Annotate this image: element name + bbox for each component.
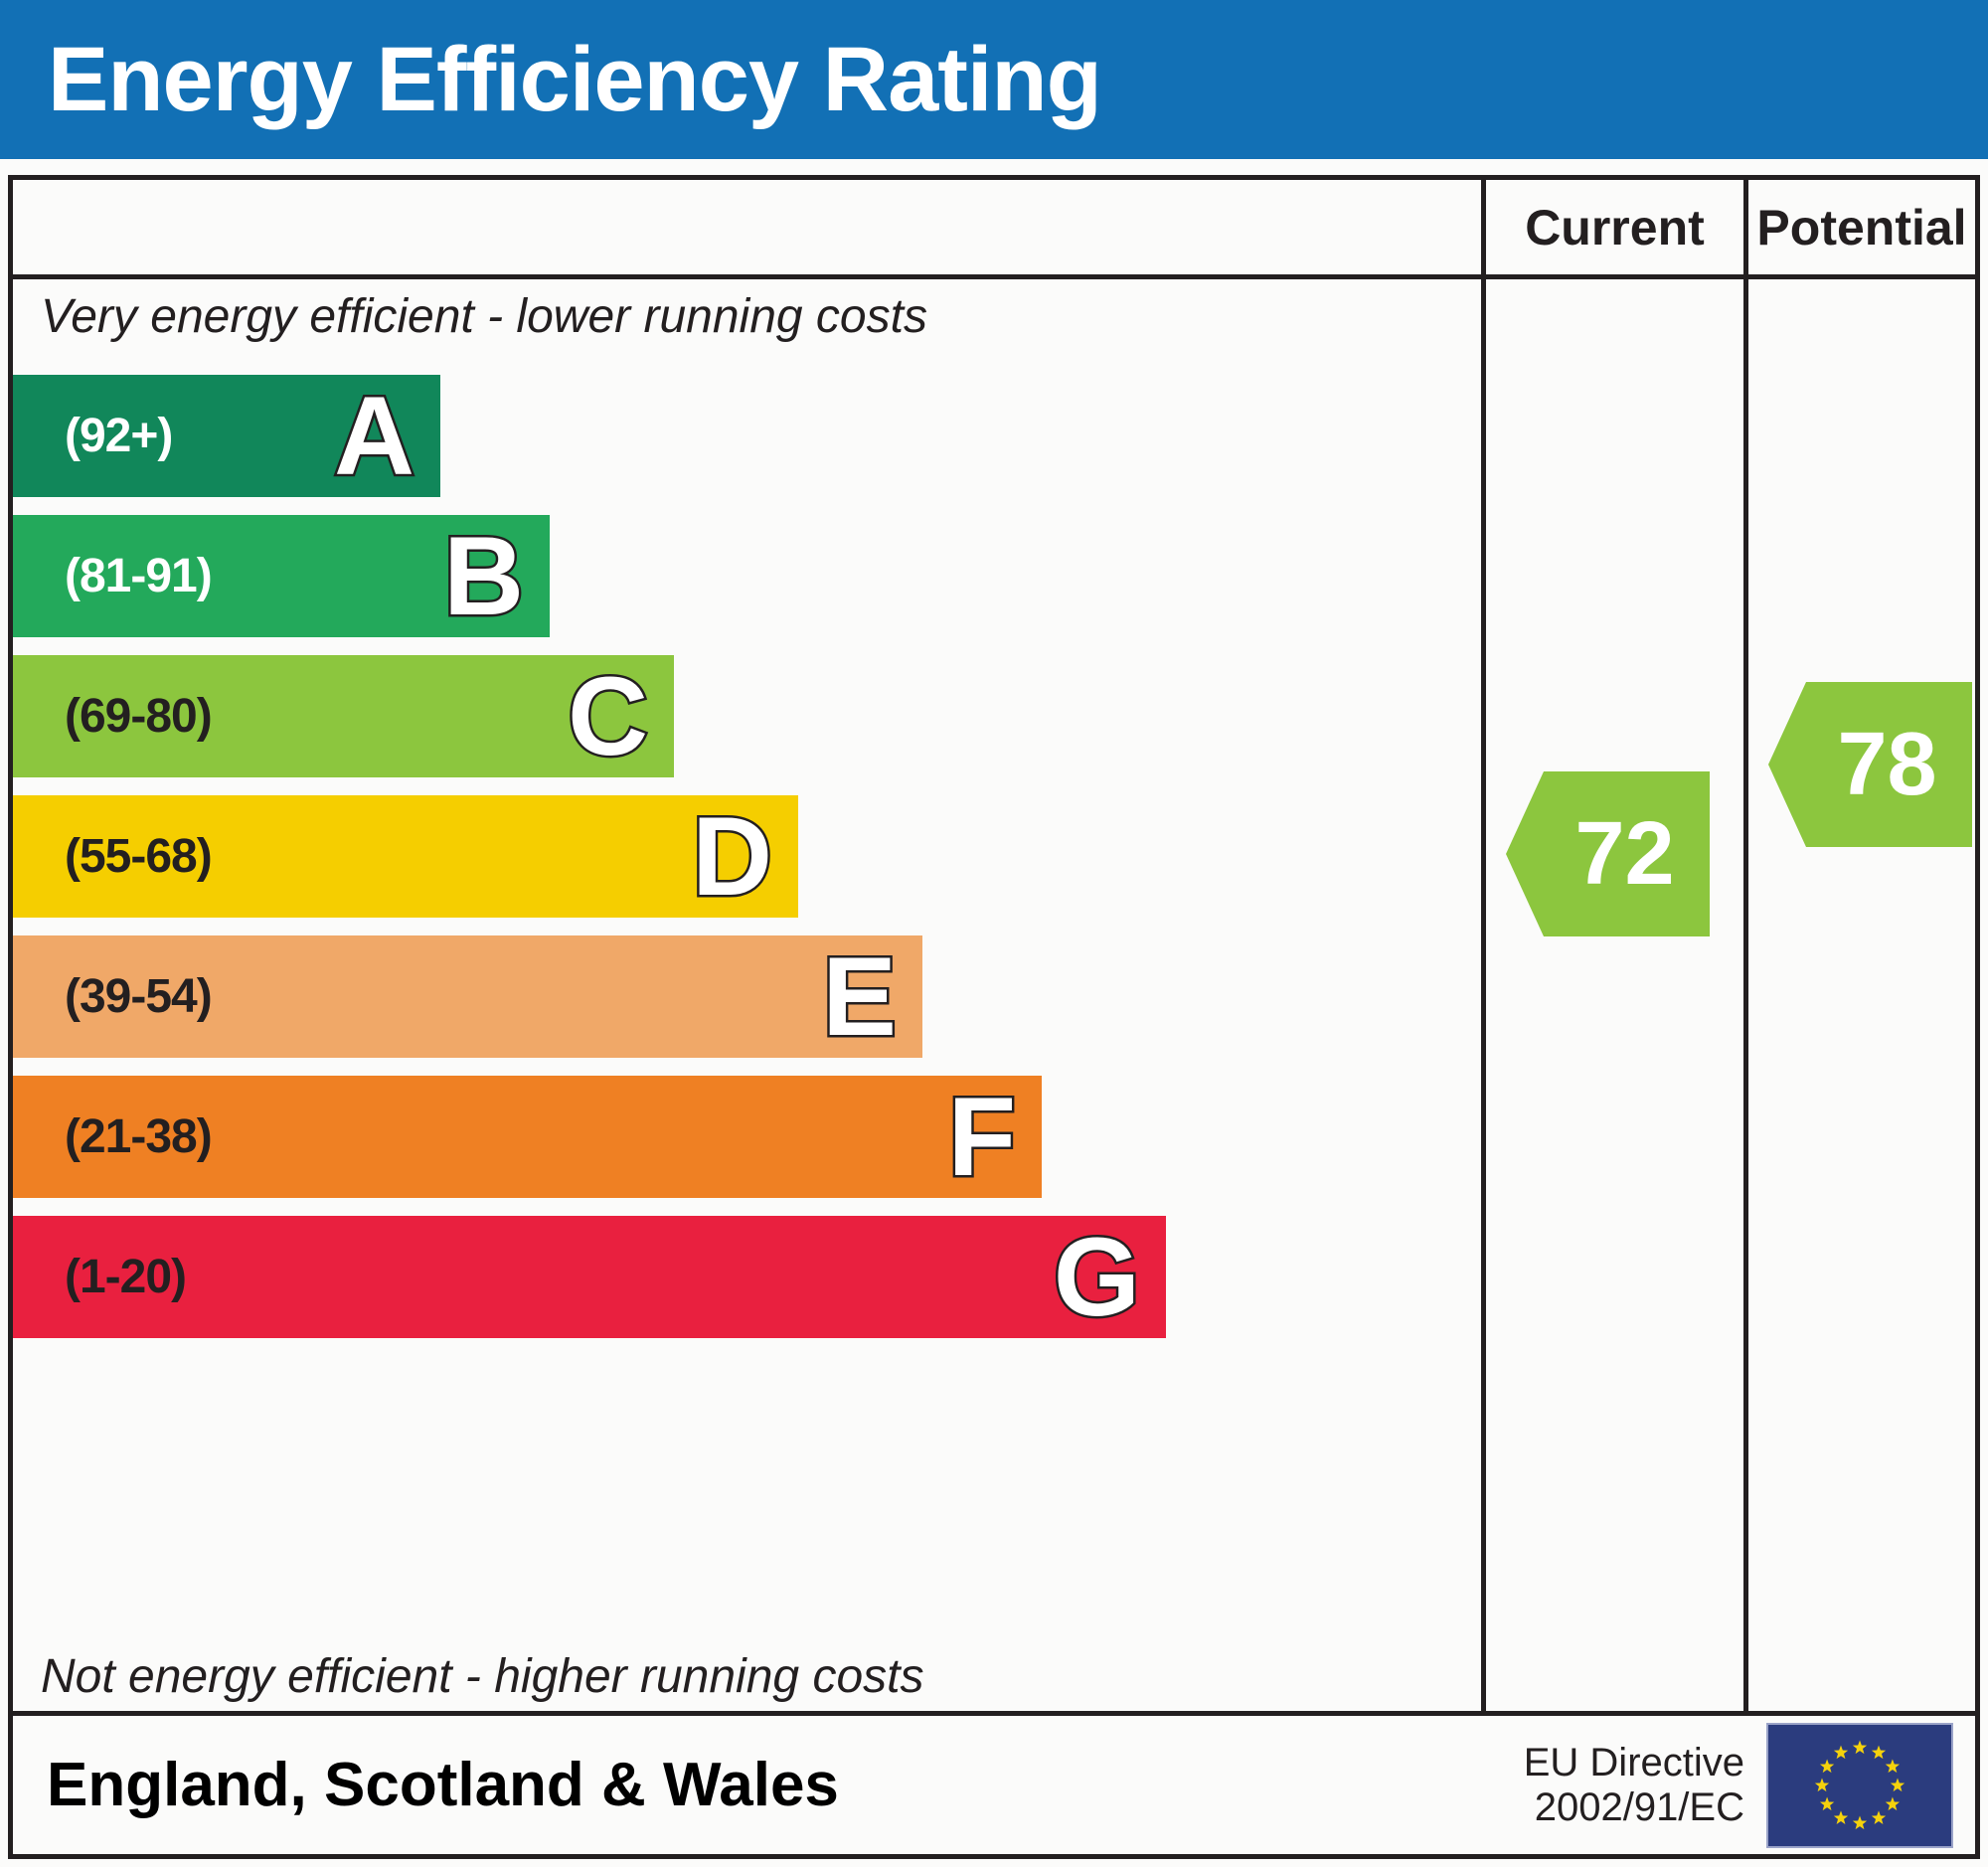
band-range-b: (81-91) <box>65 549 212 603</box>
band-letter-c: C <box>568 661 648 772</box>
page-title: Energy Efficiency Rating <box>48 34 1101 125</box>
title-bar: Energy Efficiency Rating <box>0 0 1988 159</box>
potential-rating-value: 78 <box>1837 714 1936 816</box>
eu-flag-icon <box>1766 1723 1953 1848</box>
band-row-f: (21-38) F <box>13 1076 1042 1198</box>
band-list: (92+) A (81-91) B (69-80) C (55-68) D (3… <box>13 375 1481 1356</box>
eu-directive-block: EU Directive 2002/91/EC <box>1524 1723 1953 1848</box>
band-range-c: (69-80) <box>65 689 212 744</box>
potential-rating-arrow: 78 <box>1768 682 1972 847</box>
rating-table: Current Potential Very energy efficient … <box>8 175 1980 1716</box>
energy-efficiency-certificate: Energy Efficiency Rating Current Potenti… <box>0 0 1988 1867</box>
band-letter-b: B <box>443 521 524 632</box>
region-label: England, Scotland & Wales <box>47 1750 839 1820</box>
band-letter-d: D <box>692 801 772 913</box>
band-letter-g: G <box>1054 1222 1140 1333</box>
band-row-b: (81-91) B <box>13 515 550 637</box>
caption-bottom: Not energy efficient - higher running co… <box>41 1649 923 1704</box>
eu-directive-line1: EU Directive <box>1524 1741 1744 1785</box>
band-chart: Very energy efficient - lower running co… <box>13 279 1481 1712</box>
column-divider-potential <box>1743 279 1748 1712</box>
band-letter-e: E <box>822 941 897 1053</box>
caption-top: Very energy efficient - lower running co… <box>41 289 927 344</box>
band-range-a: (92+) <box>65 409 172 463</box>
band-row-g: (1-20) G <box>13 1216 1166 1338</box>
band-row-d: (55-68) D <box>13 795 798 918</box>
band-row-a: (92+) A <box>13 375 440 497</box>
current-rating-arrow: 72 <box>1506 771 1710 936</box>
band-range-g: (1-20) <box>65 1250 186 1304</box>
column-divider-current <box>1481 279 1486 1712</box>
band-letter-f: F <box>948 1082 1016 1193</box>
column-header-current: Current <box>1481 180 1743 274</box>
eu-directive-line2: 2002/91/EC <box>1524 1785 1744 1830</box>
eu-stars <box>1768 1725 1951 1846</box>
band-range-e: (39-54) <box>65 969 212 1024</box>
footer: England, Scotland & Wales EU Directive 2… <box>8 1716 1980 1859</box>
column-header-potential: Potential <box>1743 180 1975 274</box>
table-header-row: Current Potential <box>13 180 1975 279</box>
band-row-e: (39-54) E <box>13 935 922 1058</box>
band-letter-a: A <box>334 381 414 492</box>
band-range-f: (21-38) <box>65 1109 212 1164</box>
eu-directive-text: EU Directive 2002/91/EC <box>1524 1741 1744 1830</box>
band-row-c: (69-80) C <box>13 655 674 777</box>
current-rating-value: 72 <box>1574 803 1674 906</box>
band-range-d: (55-68) <box>65 829 212 884</box>
